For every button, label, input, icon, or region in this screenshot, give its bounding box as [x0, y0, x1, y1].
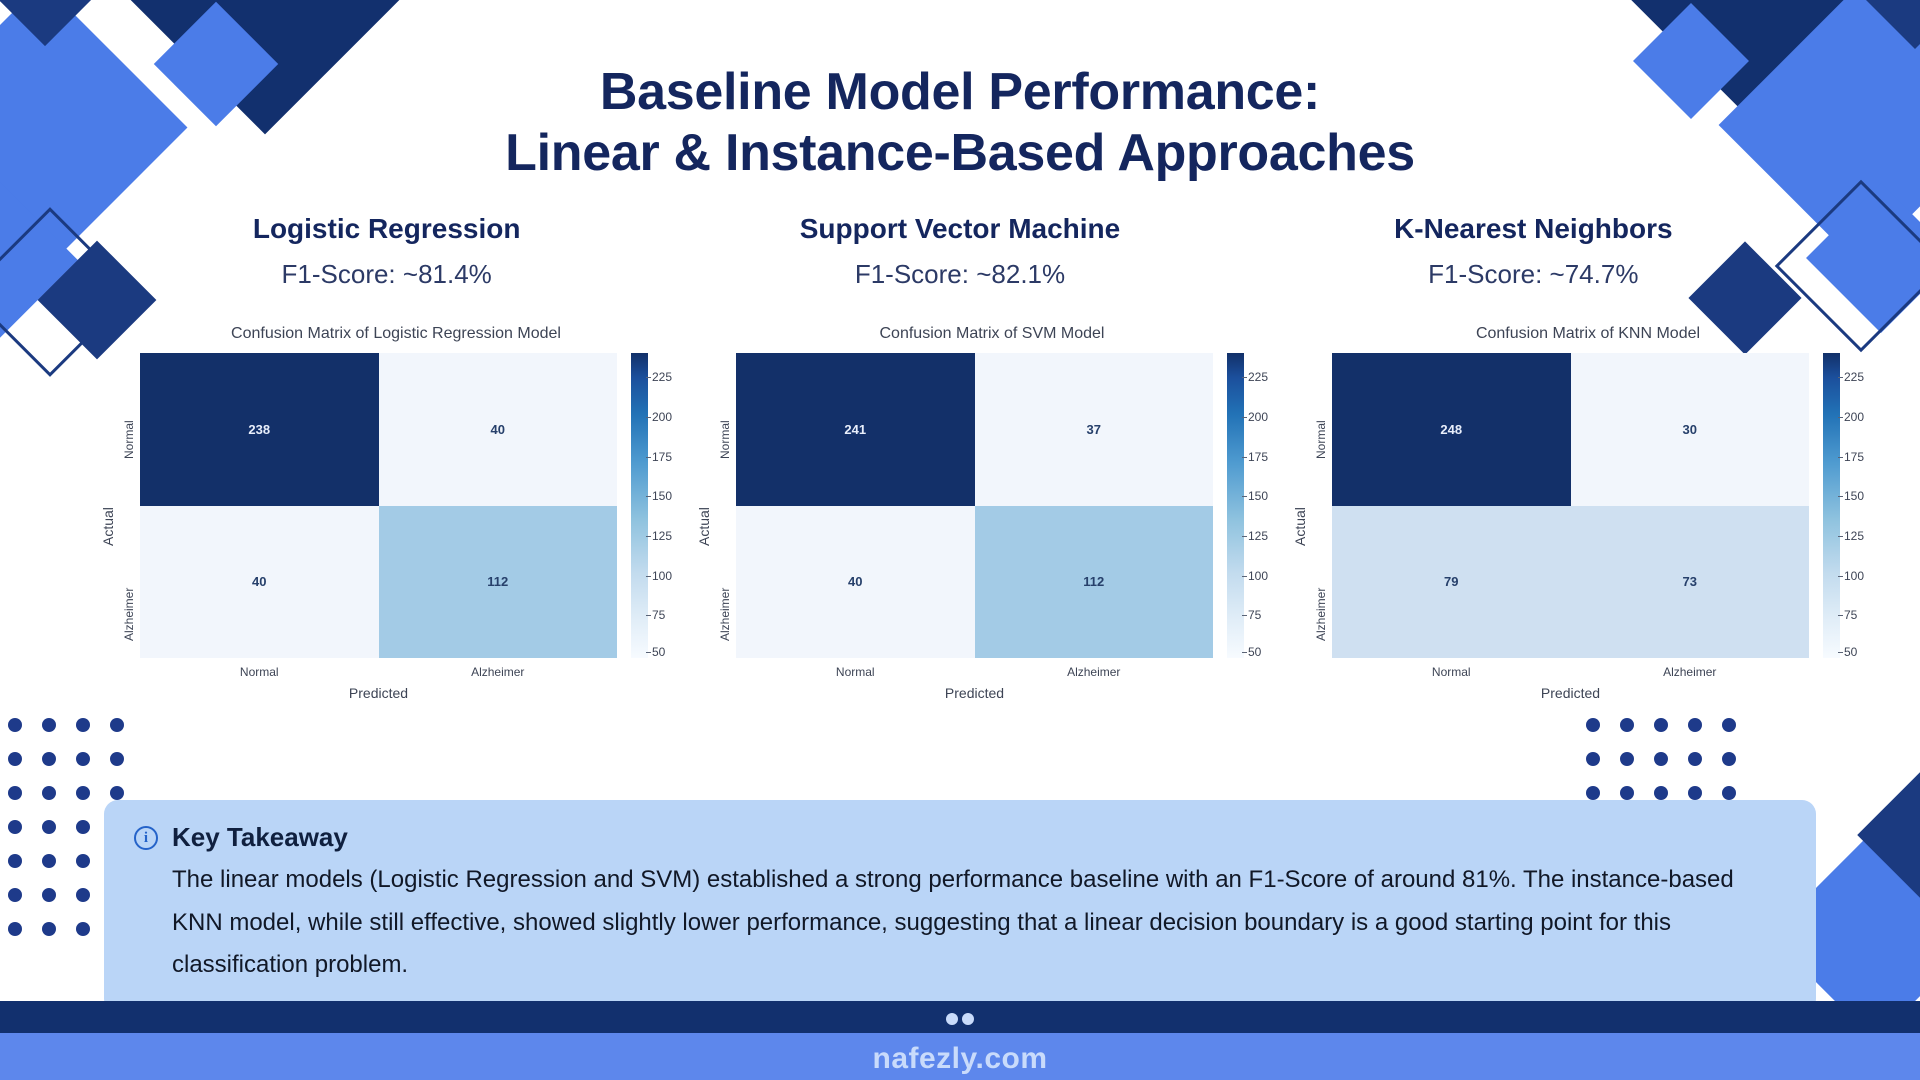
- matrix-cell: 37: [975, 353, 1214, 506]
- page-title-line-2: Linear & Instance-Based Approaches: [0, 123, 1920, 184]
- page-title-line-1: Baseline Model Performance:: [0, 62, 1920, 123]
- key-takeaway-body: The linear models (Logistic Regression a…: [172, 859, 1786, 987]
- key-takeaway-title: Key Takeaway: [172, 822, 348, 853]
- y-axis-ticks: Normal Alzheimer: [1310, 353, 1332, 701]
- x-axis-ticks: Normal Alzheimer: [140, 665, 617, 679]
- y-axis-label: Actual: [1290, 353, 1310, 701]
- x-axis-label: Predicted: [140, 685, 617, 701]
- y-tick: Alzheimer: [714, 527, 736, 701]
- model-name: Support Vector Machine: [673, 213, 1246, 245]
- matrix-grid: 248 30 79 73: [1332, 353, 1809, 658]
- colorbar-tick: 200: [1248, 410, 1268, 424]
- colorbar-tick: 225: [1248, 370, 1268, 384]
- colorbar-tick: 125: [1248, 529, 1268, 543]
- matrix-cell: 40: [736, 506, 975, 659]
- model-name: K-Nearest Neighbors: [1247, 213, 1820, 245]
- y-tick: Normal: [714, 353, 736, 527]
- watermark-label: nafezly.com: [0, 1042, 1920, 1076]
- y-tick: Normal: [1310, 353, 1332, 527]
- x-axis-label: Predicted: [1332, 685, 1809, 701]
- y-axis-ticks: Normal Alzheimer: [118, 353, 140, 701]
- confusion-matrix-knn: Confusion Matrix of KNN Model Actual Nor…: [1290, 325, 1886, 701]
- info-circle-icon: i: [134, 826, 158, 850]
- colorbar-tick: 150: [1248, 489, 1268, 503]
- colorbar-tick: 150: [652, 489, 672, 503]
- matrix-cell: 112: [379, 506, 618, 659]
- confusion-matrices-row: Confusion Matrix of Logistic Regression …: [98, 325, 1888, 701]
- colorbar-tick: 225: [652, 370, 672, 384]
- colorbar-tick: 200: [1844, 410, 1864, 424]
- x-tick: Normal: [1332, 665, 1571, 679]
- matrix-cell: 112: [975, 506, 1214, 659]
- colorbar-tick: 175: [1844, 450, 1864, 464]
- key-takeaway-callout: i Key Takeaway The linear models (Logist…: [104, 800, 1816, 1013]
- x-axis-ticks: Normal Alzheimer: [1332, 665, 1809, 679]
- colorbar-tick: 75: [1248, 608, 1261, 622]
- x-tick: Alzheimer: [975, 665, 1214, 679]
- x-axis-label: Predicted: [736, 685, 1213, 701]
- matrix-grid: 241 37 40 112: [736, 353, 1213, 658]
- colorbar-tick: 75: [1844, 608, 1857, 622]
- model-name: Logistic Regression: [100, 213, 673, 245]
- page-title: Baseline Model Performance: Linear & Ins…: [0, 62, 1920, 185]
- colorbar-gradient: [1227, 353, 1244, 658]
- colorbar-tick: 100: [1248, 569, 1268, 583]
- colorbar-tick: 150: [1844, 489, 1864, 503]
- colorbar-tick: 125: [652, 529, 672, 543]
- y-axis-label: Actual: [694, 353, 714, 701]
- x-tick: Normal: [140, 665, 379, 679]
- confusion-matrix-svm: Confusion Matrix of SVM Model Actual Nor…: [694, 325, 1290, 701]
- colorbar-tick: 175: [1248, 450, 1268, 464]
- colorbar-tick: 125: [1844, 529, 1864, 543]
- x-tick: Alzheimer: [1571, 665, 1810, 679]
- chart-title: Confusion Matrix of Logistic Regression …: [98, 325, 694, 343]
- y-tick: Alzheimer: [1310, 527, 1332, 701]
- model-f1-score: F1-Score: ~82.1%: [673, 259, 1246, 290]
- watermark-dots-icon: [0, 1012, 1920, 1030]
- x-tick: Normal: [736, 665, 975, 679]
- model-f1-score: F1-Score: ~74.7%: [1247, 259, 1820, 290]
- chart-title: Confusion Matrix of KNN Model: [1290, 325, 1886, 343]
- colorbar-ticks: 225 200 175 150 125 100 75 50: [1840, 353, 1886, 658]
- colorbar-tick: 200: [652, 410, 672, 424]
- y-tick: Alzheimer: [118, 527, 140, 701]
- colorbar-tick: 50: [652, 645, 665, 659]
- colorbar: 225 200 175 150 125 100 75 50: [631, 353, 694, 701]
- colorbar-gradient: [631, 353, 648, 658]
- y-tick: Normal: [118, 353, 140, 527]
- colorbar-tick: 50: [1844, 645, 1857, 659]
- model-header-svm: Support Vector Machine F1-Score: ~82.1%: [673, 213, 1246, 290]
- y-axis-ticks: Normal Alzheimer: [714, 353, 736, 701]
- colorbar-ticks: 225 200 175 150 125 100 75 50: [648, 353, 694, 658]
- chart-title: Confusion Matrix of SVM Model: [694, 325, 1290, 343]
- matrix-cell: 73: [1571, 506, 1810, 659]
- colorbar-tick: 75: [652, 608, 665, 622]
- matrix-cell: 238: [140, 353, 379, 506]
- x-axis-ticks: Normal Alzheimer: [736, 665, 1213, 679]
- colorbar-tick: 100: [1844, 569, 1864, 583]
- colorbar-ticks: 225 200 175 150 125 100 75 50: [1244, 353, 1290, 658]
- matrix-cell: 79: [1332, 506, 1571, 659]
- matrix-cell: 40: [379, 353, 618, 506]
- matrix-grid: 238 40 40 112: [140, 353, 617, 658]
- model-f1-score: F1-Score: ~81.4%: [100, 259, 673, 290]
- matrix-cell: 30: [1571, 353, 1810, 506]
- x-tick: Alzheimer: [379, 665, 618, 679]
- colorbar-gradient: [1823, 353, 1840, 658]
- matrix-cell: 40: [140, 506, 379, 659]
- colorbar: 225 200 175 150 125 100 75 50: [1227, 353, 1290, 701]
- model-header-logistic-regression: Logistic Regression F1-Score: ~81.4%: [100, 213, 673, 290]
- model-header-knn: K-Nearest Neighbors F1-Score: ~74.7%: [1247, 213, 1820, 290]
- y-axis-label: Actual: [98, 353, 118, 701]
- confusion-matrix-logistic-regression: Confusion Matrix of Logistic Regression …: [98, 325, 694, 701]
- matrix-cell: 241: [736, 353, 975, 506]
- colorbar-tick: 225: [1844, 370, 1864, 384]
- model-headers-row: Logistic Regression F1-Score: ~81.4% Sup…: [100, 213, 1820, 290]
- colorbar-tick: 175: [652, 450, 672, 464]
- matrix-cell: 248: [1332, 353, 1571, 506]
- colorbar-tick: 50: [1248, 645, 1261, 659]
- colorbar: 225 200 175 150 125 100 75 50: [1823, 353, 1886, 701]
- colorbar-tick: 100: [652, 569, 672, 583]
